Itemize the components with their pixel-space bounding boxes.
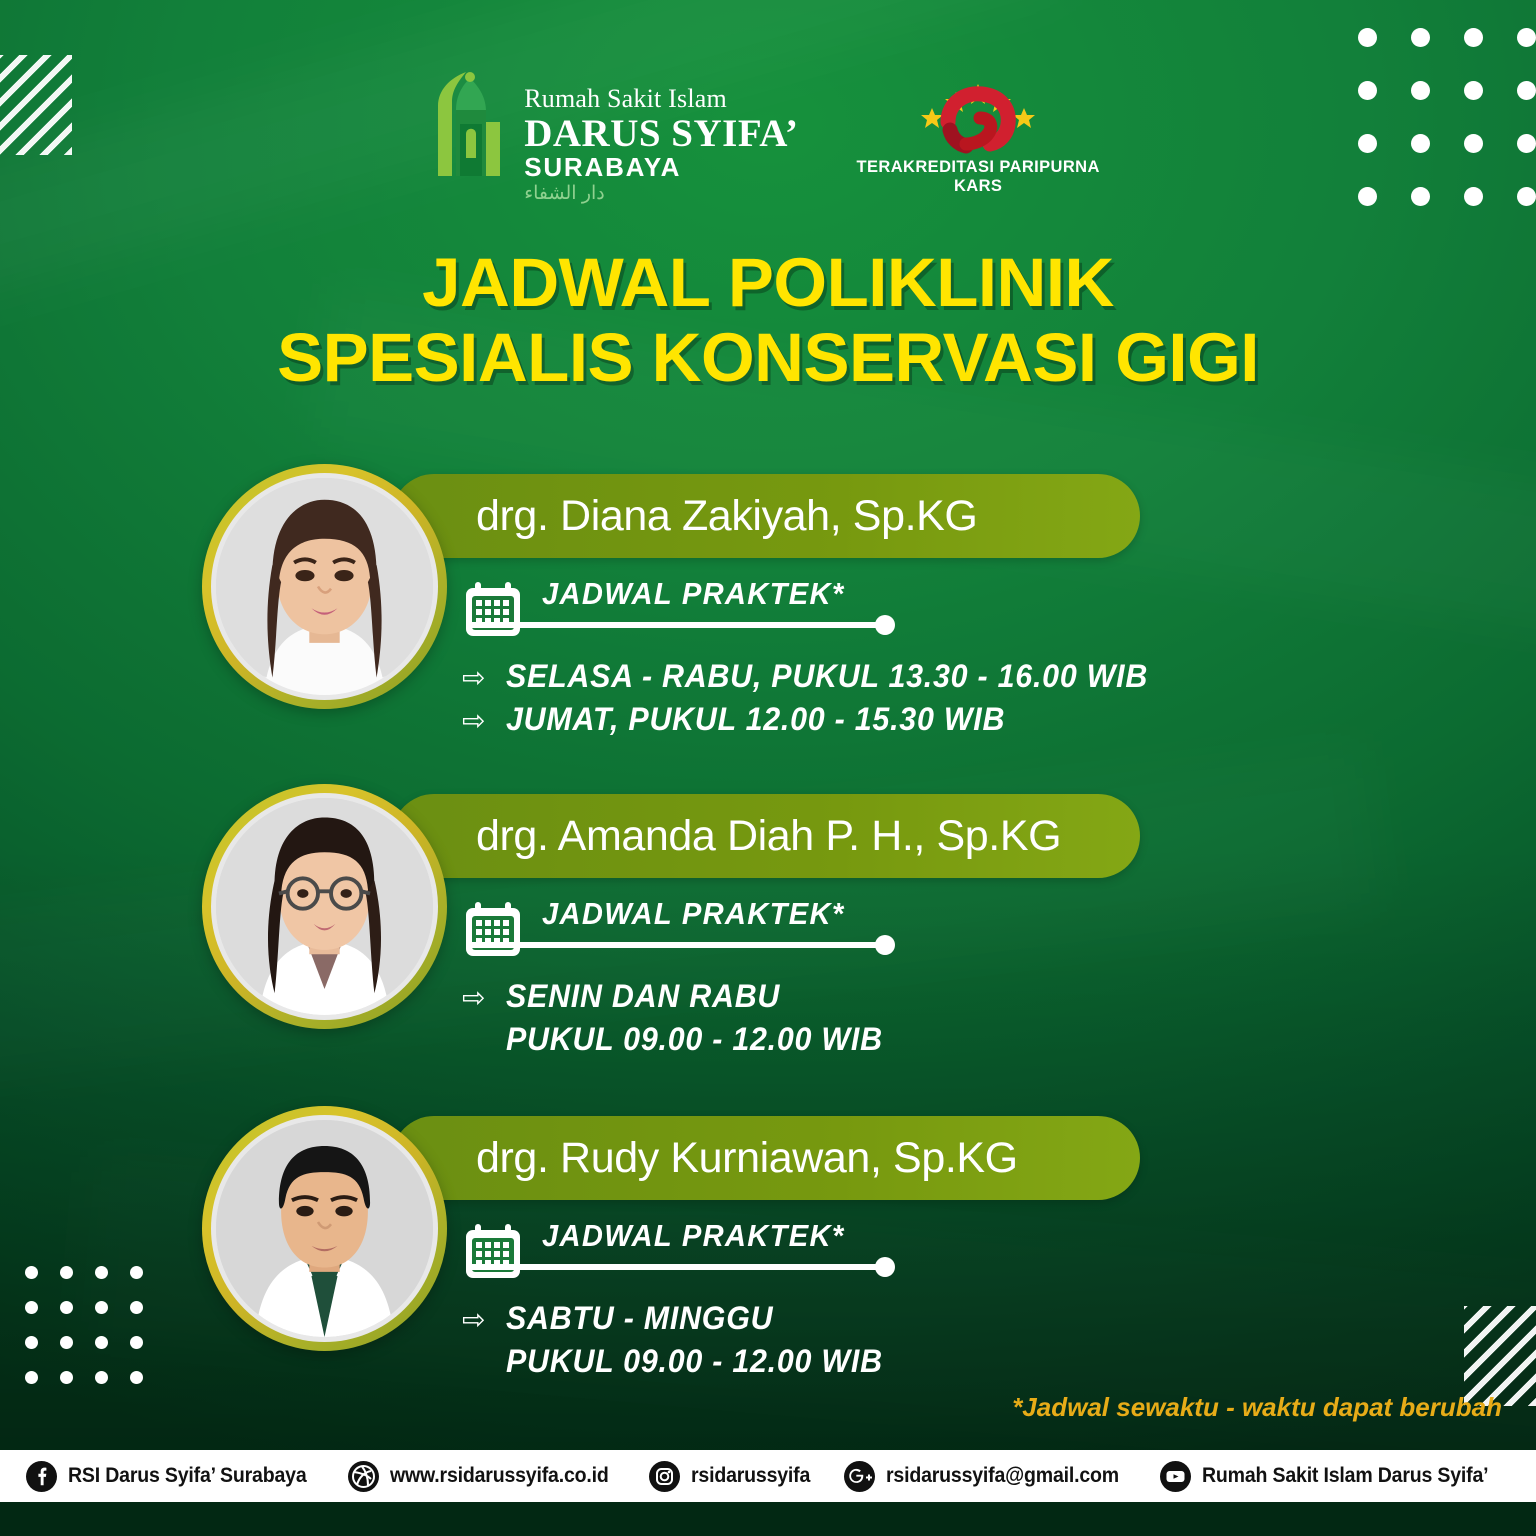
avatar (202, 1106, 447, 1351)
footer-text-facebook: RSI Darus Syifa’ Surabaya (68, 1464, 307, 1488)
footer-text-website: www.rsidarussyifa.co.id (390, 1464, 609, 1488)
avatar (202, 784, 447, 1029)
arrow-right-icon: ⇨ (462, 707, 492, 735)
schedule-line-continuation: PUKUL 09.00 - 12.00 WIB (462, 1021, 1222, 1058)
kars-line-2: KARS (857, 177, 1100, 196)
logo-line-3: SURABAYA (524, 154, 798, 180)
dribbble-icon (348, 1461, 379, 1492)
footer-item-youtube[interactable]: Rumah Sakit Islam Darus Syifa’ (1160, 1461, 1510, 1492)
hospital-logo: Rumah Sakit Islam DARUS SYIFA’ SURABAYA … (436, 68, 798, 203)
schedule-line: ⇨ JUMAT, PUKUL 12.00 - 15.30 WIB (462, 701, 1222, 738)
schedule-block: JADWAL PRAKTEK* ⇨ SABTU - MINGGU PUKUL 0… (462, 1216, 1222, 1386)
schedule-lines: ⇨ SABTU - MINGGU PUKUL 09.00 - 12.00 WIB (462, 1300, 1222, 1380)
arrow-right-icon: ⇨ (462, 664, 492, 692)
doctor-card: drg. Rudy Kurniawan, Sp.KG (0, 1104, 1536, 1414)
youtube-icon (1160, 1461, 1191, 1492)
schedule-text: SABTU - MINGGU (506, 1300, 773, 1337)
schedule-label: JADWAL PRAKTEK* (542, 896, 1181, 932)
footer-text-youtube: Rumah Sakit Islam Darus Syifa’ (1202, 1464, 1488, 1488)
schedule-line: ⇨ SENIN DAN RABU (462, 978, 1222, 1015)
doctor-name: drg. Amanda Diah P. H., Sp.KG (476, 812, 1061, 861)
footer-item-facebook[interactable]: RSI Darus Syifa’ Surabaya (26, 1461, 324, 1492)
avatar (202, 464, 447, 709)
rule-knob-icon (875, 1257, 895, 1277)
footer-item-website[interactable]: www.rsidarussyifa.co.id (348, 1461, 625, 1492)
schedule-line-continuation: PUKUL 09.00 - 12.00 WIB (462, 1343, 1222, 1380)
page-title: JADWAL POLIKLINIK SPESIALIS KONSERVASI G… (0, 246, 1536, 395)
schedule-text: SELASA - RABU, PUKUL 13.30 - 16.00 WIB (506, 658, 1148, 695)
contact-footer-bar: RSI Darus Syifa’ Surabaya www.rsidarussy… (0, 1450, 1536, 1502)
schedule-line: ⇨ SABTU - MINGGU (462, 1300, 1222, 1337)
footer-text-instagram: rsidarussyifa (691, 1464, 810, 1488)
doctor-name: drg. Rudy Kurniawan, Sp.KG (476, 1134, 1018, 1183)
kars-line-1: TERAKREDITASI PARIPURNA (857, 158, 1100, 177)
poster-canvas: Rumah Sakit Islam DARUS SYIFA’ SURABAYA … (0, 0, 1536, 1536)
doctor-name: drg. Diana Zakiyah, Sp.KG (476, 492, 977, 541)
page-title-line-1: JADWAL POLIKLINIK (0, 246, 1536, 321)
schedule-block: JADWAL PRAKTEK* ⇨ SENIN DAN RABU PUKUL 0… (462, 894, 1222, 1064)
schedule-rule (468, 1264, 888, 1270)
instagram-icon (649, 1461, 680, 1492)
schedule-disclaimer: *Jadwal sewaktu - waktu dapat berubah (1012, 1392, 1502, 1423)
calendar-icon (462, 578, 524, 640)
doctor-photo-rudy (216, 1120, 433, 1337)
page-title-line-2: SPESIALIS KONSERVASI GIGI (0, 321, 1536, 396)
schedule-label: JADWAL PRAKTEK* (542, 1218, 1181, 1254)
header-logos: Rumah Sakit Islam DARUS SYIFA’ SURABAYA … (0, 68, 1536, 203)
arrow-right-icon: ⇨ (462, 1306, 492, 1334)
calendar-icon (462, 898, 524, 960)
kars-logo-icon (908, 74, 1048, 156)
rule-knob-icon (875, 615, 895, 635)
doctor-name-pill: drg. Diana Zakiyah, Sp.KG (392, 474, 1140, 558)
schedule-line: ⇨ SELASA - RABU, PUKUL 13.30 - 16.00 WIB (462, 658, 1222, 695)
hospital-logo-text: Rumah Sakit Islam DARUS SYIFA’ SURABAYA … (524, 68, 798, 203)
footer-text-email: rsidarussyifa@gmail.com (886, 1464, 1119, 1488)
schedule-rule (468, 942, 888, 948)
schedule-text: PUKUL 09.00 - 12.00 WIB (506, 1021, 883, 1058)
schedule-lines: ⇨ SELASA - RABU, PUKUL 13.30 - 16.00 WIB… (462, 658, 1222, 738)
kars-accreditation: TERAKREDITASI PARIPURNA KARS (857, 68, 1100, 196)
doctor-card: drg. Diana Zakiyah, Sp.KG (0, 462, 1536, 772)
logo-line-1: Rumah Sakit Islam (524, 86, 798, 112)
mosque-logo-icon (436, 72, 514, 176)
doctor-photo-amanda (216, 798, 433, 1015)
logo-line-2: DARUS SYIFA’ (524, 114, 798, 153)
schedule-text: PUKUL 09.00 - 12.00 WIB (506, 1343, 883, 1380)
schedule-text: SENIN DAN RABU (506, 978, 780, 1015)
footer-item-instagram[interactable]: rsidarussyifa (649, 1461, 819, 1492)
doctor-card: drg. Amanda Diah P. H., Sp.KG (0, 782, 1536, 1092)
doctor-name-pill: drg. Amanda Diah P. H., Sp.KG (392, 794, 1140, 878)
arrow-right-icon: ⇨ (462, 984, 492, 1012)
schedule-label: JADWAL PRAKTEK* (542, 576, 1181, 612)
footer-item-email[interactable]: rsidarussyifa@gmail.com (844, 1461, 1136, 1492)
calendar-icon (462, 1220, 524, 1282)
logo-arabic-text: دار الشفاء (524, 184, 798, 203)
schedule-block: JADWAL PRAKTEK* ⇨ SELASA - RABU, PUKUL 1… (462, 574, 1222, 744)
rule-knob-icon (875, 935, 895, 955)
facebook-icon (26, 1461, 57, 1492)
doctor-name-pill: drg. Rudy Kurniawan, Sp.KG (392, 1116, 1140, 1200)
doctor-photo-diana (216, 478, 433, 695)
schedule-rule (468, 622, 888, 628)
schedule-text: JUMAT, PUKUL 12.00 - 15.30 WIB (506, 701, 1005, 738)
google-plus-icon (844, 1461, 875, 1492)
schedule-lines: ⇨ SENIN DAN RABU PUKUL 09.00 - 12.00 WIB (462, 978, 1222, 1058)
